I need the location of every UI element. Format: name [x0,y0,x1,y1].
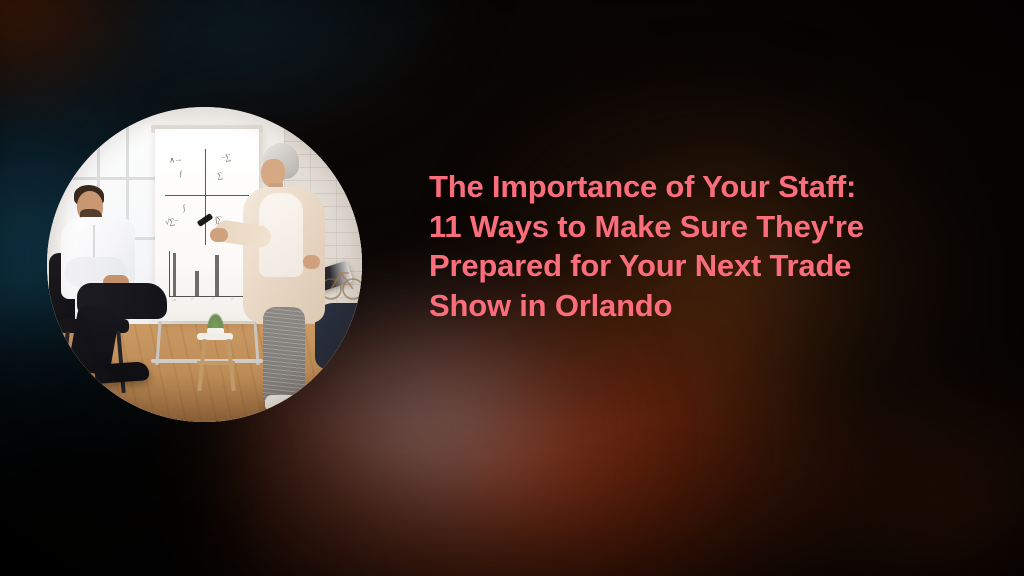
presenter-hand-holding-marker [210,228,228,242]
sketch-chart-tick: − [231,297,235,303]
banner-canvas: ∧→ ƒ −∑ ∑ ∫ √∑− ∫∑ → − − − [0,0,1024,576]
title-line-3: Prepared for Your Next Trade [429,246,949,286]
quadrant-label-bl: √∑− [165,216,179,227]
quadrant-vertical-axis [205,149,206,245]
hero-circular-photo: ∧→ ƒ −∑ ∑ ∫ √∑− ∫∑ → − − − [47,107,362,422]
meeting-room-scene: ∧→ ƒ −∑ ∑ ∫ √∑− ∫∑ → − − − [47,107,362,422]
sketch-bar [215,255,219,296]
quadrant-mark-tl: ƒ [178,169,183,178]
quadrant-mark-tr: ∑ [216,171,222,181]
presenter-trousers [263,307,305,405]
background-bicycle [319,257,362,303]
man-loafer-shoe [94,361,149,384]
quadrant-label-tl: ∧→ [168,154,182,165]
sketch-chart-x-axis [169,296,247,297]
quadrant-label-tr: −∑ [220,152,230,162]
sketch-chart-tick: − [191,297,195,303]
sketch-chart-tick: − [211,297,215,303]
floor-shadow [47,372,362,422]
sketch-bar [195,271,199,296]
quadrant-horizontal-axis [165,195,249,196]
presenter-shoe [265,395,305,411]
title-line-4: Show in Orlando [429,286,949,326]
presenter-other-hand [303,255,320,269]
sketch-chart-y-axis [169,251,170,297]
quadrant-mark-bl: ∫ [182,203,185,212]
stool-crossbar [197,361,235,365]
title-line-2: 11 Ways to Make Sure They're [429,207,949,247]
sketch-chart-tick: → [171,297,177,304]
title-line-1: The Importance of Your Staff: [429,167,949,207]
page-title: The Importance of Your Staff: 11 Ways to… [429,167,949,325]
sketch-bar [173,253,176,296]
